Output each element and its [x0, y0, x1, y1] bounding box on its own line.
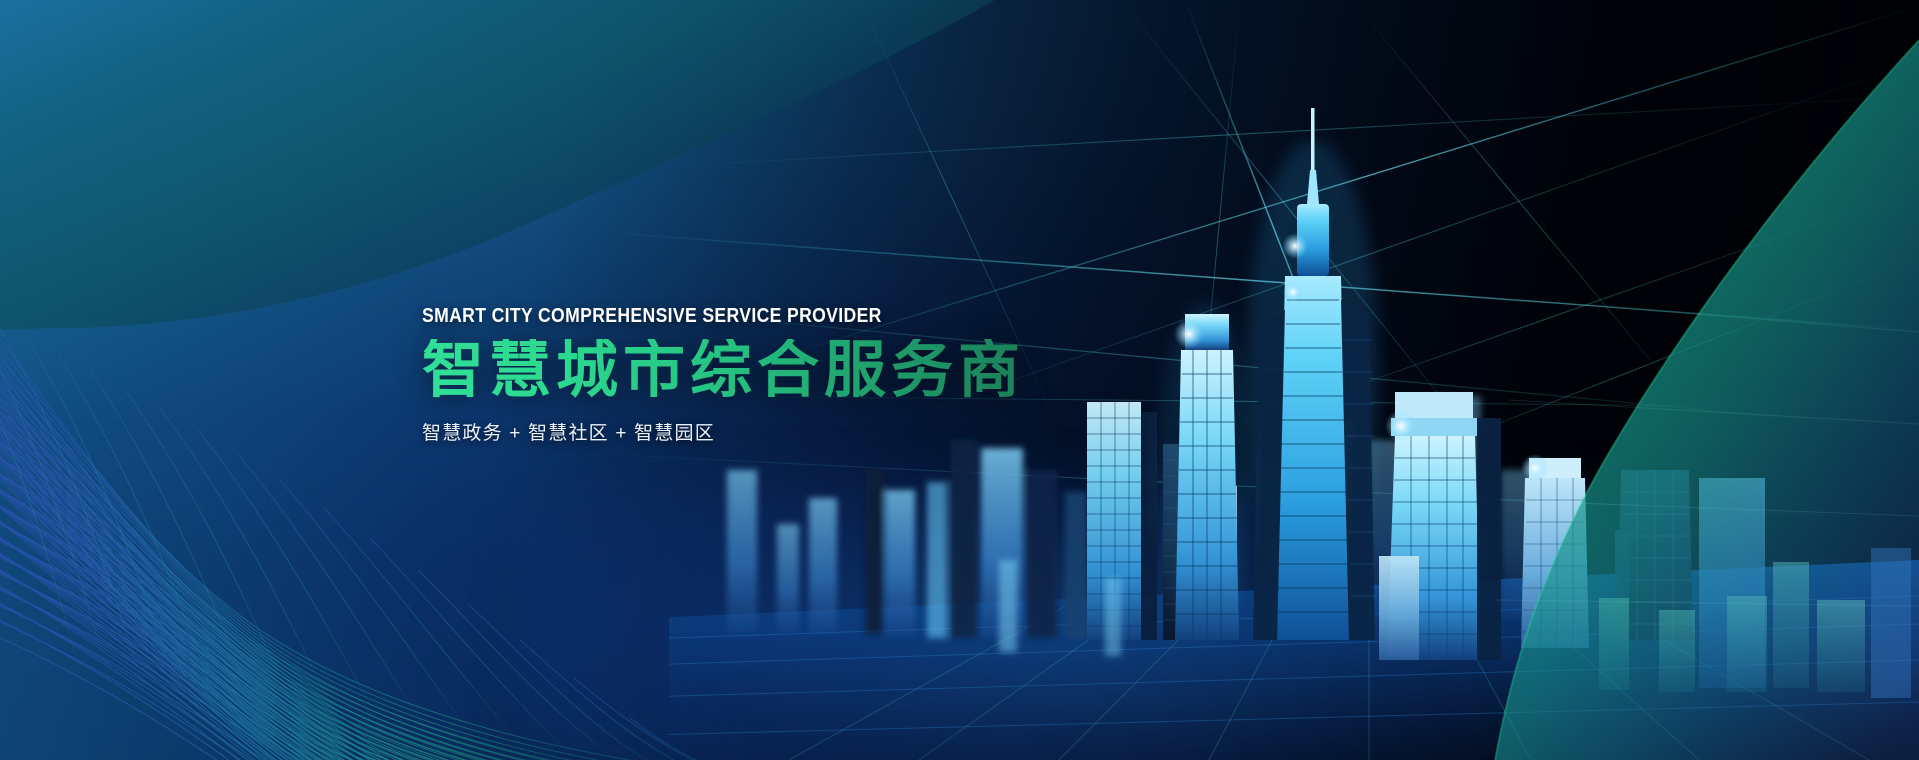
hero-copy: SMART CITY COMPREHENSIVE SERVICE PROVIDE…	[422, 305, 1182, 445]
signature-tower	[1247, 108, 1379, 640]
banner-subcopy: 智慧政务 + 智慧社区 + 智慧园区	[422, 418, 1182, 445]
banner-headline: 智慧城市综合服务商	[422, 339, 1182, 402]
hero-banner: SMART CITY COMPREHENSIVE SERVICE PROVIDE…	[0, 0, 1919, 760]
banner-eyebrow: SMART CITY COMPREHENSIVE SERVICE PROVIDE…	[422, 305, 1091, 327]
